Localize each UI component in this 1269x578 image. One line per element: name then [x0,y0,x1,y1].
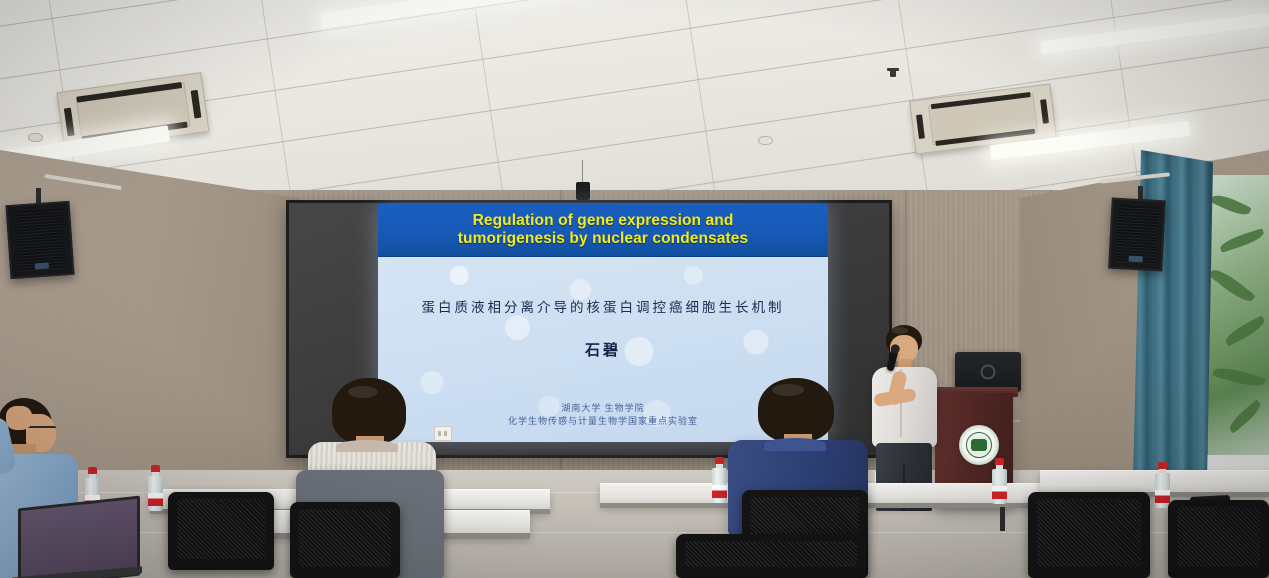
window [1205,175,1269,475]
dell-monitor [955,352,1021,392]
smoke-detector-left [28,133,43,142]
table-leg [1000,507,1005,531]
smoke-detector [758,136,773,145]
lecture-hall-scene: Regulation of gene expression and tumori… [0,0,1269,578]
ceiling-camera-icon [576,182,590,200]
ceiling-camera-wire [582,160,583,184]
slide-subtitle: 蛋白质液相分离介导的核蛋白调控癌细胞生长机制 [378,296,828,316]
speaker-bracket-left [36,188,41,204]
wall-speaker-left [5,201,74,279]
audience-left-hand [6,406,32,430]
slide-author: 石碧 [378,339,828,360]
sprinkler-head [890,68,896,77]
slide-title-line1: Regulation of gene expression and [458,212,748,230]
audience-right-collar [764,438,826,451]
slide-title-bar: Regulation of gene expression and tumori… [378,204,828,257]
slide-title: Regulation of gene expression and tumori… [452,212,754,249]
glasses-icon [26,426,56,434]
dell-logo-icon [981,365,996,380]
wall-outlet-left[interactable] [434,426,452,441]
university-seal-icon [959,425,999,465]
slide-title-line2: tumorigenesis by nuclear condensates [458,230,748,248]
wall-speaker-right [1108,198,1166,272]
ceiling [0,0,1269,210]
audience-center-collar [336,440,398,452]
